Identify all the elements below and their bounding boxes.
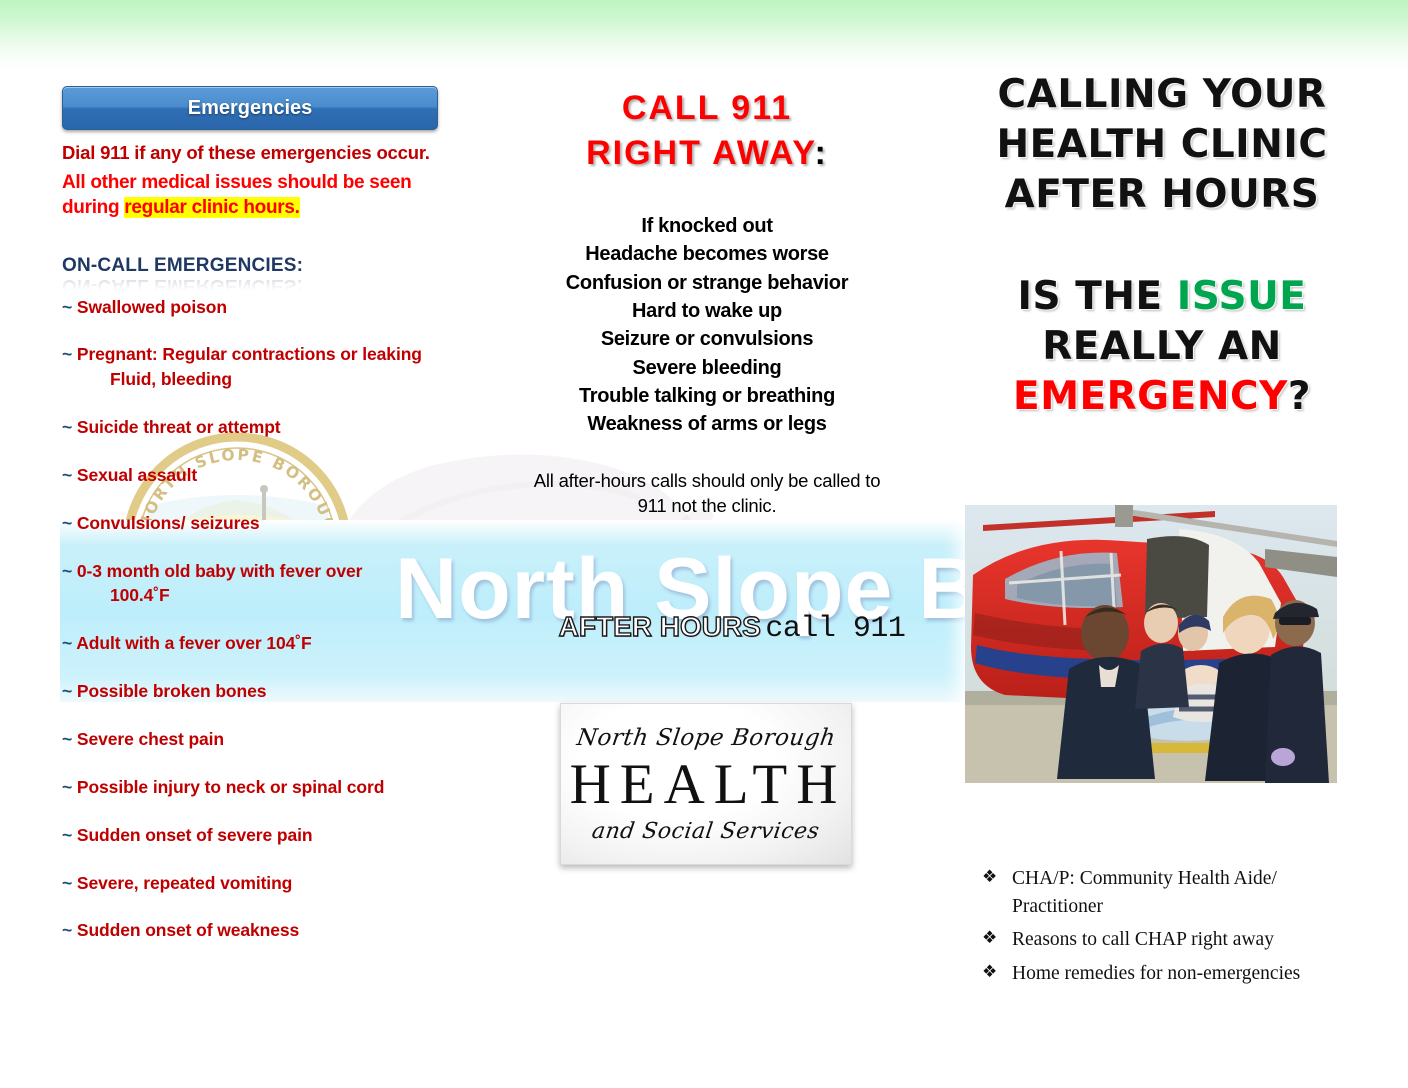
- tilde-bullet-icon: ~: [62, 561, 72, 581]
- left-panel: Emergencies Dial 911 if any of these eme…: [62, 86, 482, 966]
- diamond-bullet-icon: ❖: [982, 865, 1012, 920]
- headline-line-1: CALL 911: [622, 89, 792, 127]
- right-panel: CALLING YOUR HEALTH CLINIC AFTER HOURS I…: [962, 70, 1362, 421]
- logo-bottom-script: and Social Services: [591, 819, 822, 844]
- tilde-bullet-icon: ~: [62, 681, 72, 701]
- on-call-heading-colon: :: [297, 255, 304, 276]
- tilde-bullet-icon: ~: [62, 297, 72, 317]
- all-other-issues-note: All other medical issues should be seen …: [62, 170, 482, 221]
- emergency-list: ~ Swallowed poison ~ Pregnant: Regular c…: [62, 295, 482, 944]
- after-hours-label: AFTER HOURS: [559, 611, 761, 642]
- on-call-emergencies-heading: ON-CALL EMERGENCIES: ON-CALL EMERGENCIES…: [62, 255, 482, 277]
- symptom-item: If knocked out: [492, 212, 922, 240]
- title-line-1: CALLING YOUR: [962, 70, 1362, 120]
- after-hours-note: All after-hours calls should only be cal…: [492, 469, 922, 519]
- tilde-bullet-icon: ~: [62, 729, 72, 749]
- list-item: ~ Sudden onset of severe pain: [62, 823, 482, 848]
- tilde-bullet-icon: ~: [62, 920, 72, 940]
- diamond-bullet-icon: ❖: [982, 926, 1012, 954]
- tilde-bullet-icon: ~: [62, 513, 72, 533]
- logo-main-word: HEALTH: [570, 756, 847, 813]
- symptom-item: Confusion or strange behavior: [492, 269, 922, 297]
- list-item: ~ Possible broken bones: [62, 679, 482, 704]
- title-line-2: HEALTH CLINIC: [962, 120, 1362, 170]
- tilde-bullet-icon: ~: [62, 417, 72, 437]
- tilde-bullet-icon: ~: [62, 465, 72, 485]
- top-green-border: [0, 0, 1408, 70]
- symptom-item: Weakness of arms or legs: [492, 410, 922, 438]
- all-other-line-2-prefix: during: [62, 197, 124, 218]
- diamond-bullet-icon: ❖: [982, 960, 1012, 988]
- question-line-1: IS THE ISSUE: [962, 272, 1362, 322]
- symptom-item: Hard to wake up: [492, 297, 922, 325]
- chap-topics-list: ❖ CHA/P: Community Health Aide/ Practiti…: [982, 865, 1362, 994]
- list-item: ~ Sexual assault: [62, 463, 482, 488]
- tilde-bullet-icon: ~: [62, 633, 72, 653]
- emergency-word: EMERGENCY: [1013, 374, 1288, 419]
- middle-panel: CALL 911 RIGHT AWAY: If knocked out Head…: [492, 86, 922, 519]
- call-911-headline: CALL 911 RIGHT AWAY:: [492, 86, 922, 176]
- symptom-item: Severe bleeding: [492, 354, 922, 382]
- logo-top-script: North Slope Borough: [575, 725, 837, 751]
- headline-line-2: RIGHT AWAY: [586, 134, 814, 172]
- question-line-2: REALLY AN: [962, 322, 1362, 372]
- list-item: ~ Pregnant: Regular contractions or leak…: [62, 342, 482, 392]
- all-other-line-1: All other medical issues should be seen: [62, 172, 411, 193]
- list-item: ❖ Home remedies for non-emergencies: [982, 960, 1362, 988]
- on-call-heading-reflection: ON-CALL EMERGENCIES:: [62, 274, 303, 296]
- emergencies-header-label: Emergencies: [188, 97, 313, 120]
- list-item: ~ Suicide threat or attempt: [62, 415, 482, 440]
- list-item: ~ Adult with a fever over 104˚F: [62, 631, 482, 656]
- after-hours-call-911-banner: AFTER HOURS call 911: [532, 611, 932, 646]
- list-item: ~ Swallowed poison: [62, 295, 482, 320]
- on-call-heading-text: ON-CALL EMERGENCIES: [62, 255, 297, 276]
- symptom-item: Seizure or convulsions: [492, 325, 922, 353]
- list-item: ~ Possible injury to neck or spinal cord: [62, 775, 482, 800]
- list-item: ~ Convulsions/ seizures: [62, 511, 482, 536]
- medevac-photo: [965, 505, 1337, 783]
- list-item: ~ 0-3 month old baby with fever over100.…: [62, 559, 482, 609]
- health-and-social-services-logo: North Slope Borough HEALTH and Social Se…: [560, 703, 852, 865]
- list-item: ❖ Reasons to call CHAP right away: [982, 926, 1362, 954]
- tilde-bullet-icon: ~: [62, 873, 72, 893]
- tilde-bullet-icon: ~: [62, 344, 72, 364]
- list-item: ~ Severe, repeated vomiting: [62, 871, 482, 896]
- list-item: ❖ CHA/P: Community Health Aide/ Practiti…: [982, 865, 1362, 920]
- emergencies-header-button[interactable]: Emergencies: [62, 86, 438, 130]
- question-mark: ?: [1288, 374, 1311, 419]
- symptom-list: If knocked out Headache becomes worse Co…: [492, 212, 922, 439]
- headline-colon: :: [815, 134, 828, 172]
- after-hours-note-line-1: All after-hours calls should only be cal…: [534, 470, 881, 491]
- after-hours-note-line-2: 911 not the clinic.: [638, 495, 777, 516]
- symptom-item: Headache becomes worse: [492, 240, 922, 268]
- medevac-photo-image: [965, 505, 1337, 783]
- question-line-3: EMERGENCY?: [962, 372, 1362, 422]
- clinic-hours-highlight: regular clinic hours.: [124, 197, 299, 218]
- tilde-bullet-icon: ~: [62, 777, 72, 797]
- title-line-3: AFTER HOURS: [962, 170, 1362, 220]
- list-item: ~ Sudden onset of weakness: [62, 918, 482, 943]
- issue-word: ISSUE: [1177, 274, 1307, 319]
- emergency-question: IS THE ISSUE REALLY AN EMERGENCY?: [962, 272, 1362, 422]
- dial-911-line: Dial 911 if any of these emergencies occ…: [62, 142, 482, 164]
- list-item: ~ Severe chest pain: [62, 727, 482, 752]
- symptom-item: Trouble talking or breathing: [492, 382, 922, 410]
- brochure-title: CALLING YOUR HEALTH CLINIC AFTER HOURS: [962, 70, 1362, 220]
- call-911-text: call 911: [765, 612, 905, 646]
- tilde-bullet-icon: ~: [62, 825, 72, 845]
